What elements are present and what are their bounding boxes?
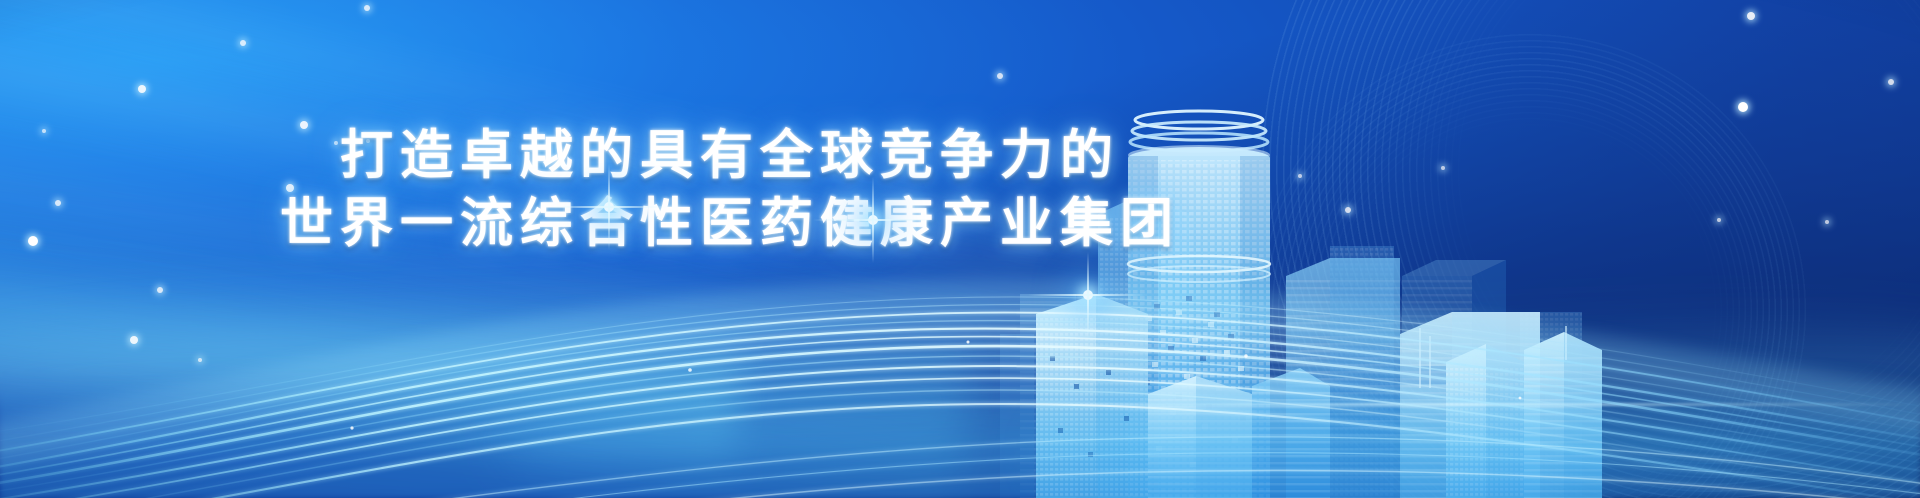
headline-block: 打造卓越的具有全球竞争力的 世界一流综合性医药健康产业集团	[0, 122, 1460, 258]
headline-line-1: 打造卓越的具有全球竞争力的	[0, 122, 1460, 190]
particle-dot	[364, 5, 370, 11]
hero-banner: 打造卓越的具有全球竞争力的 世界一流综合性医药健康产业集团	[0, 0, 1920, 498]
headline-line-2: 世界一流综合性医药健康产业集团	[0, 190, 1460, 258]
particle-dot	[997, 73, 1003, 79]
flowing-light-ribbons-icon	[0, 238, 1920, 498]
